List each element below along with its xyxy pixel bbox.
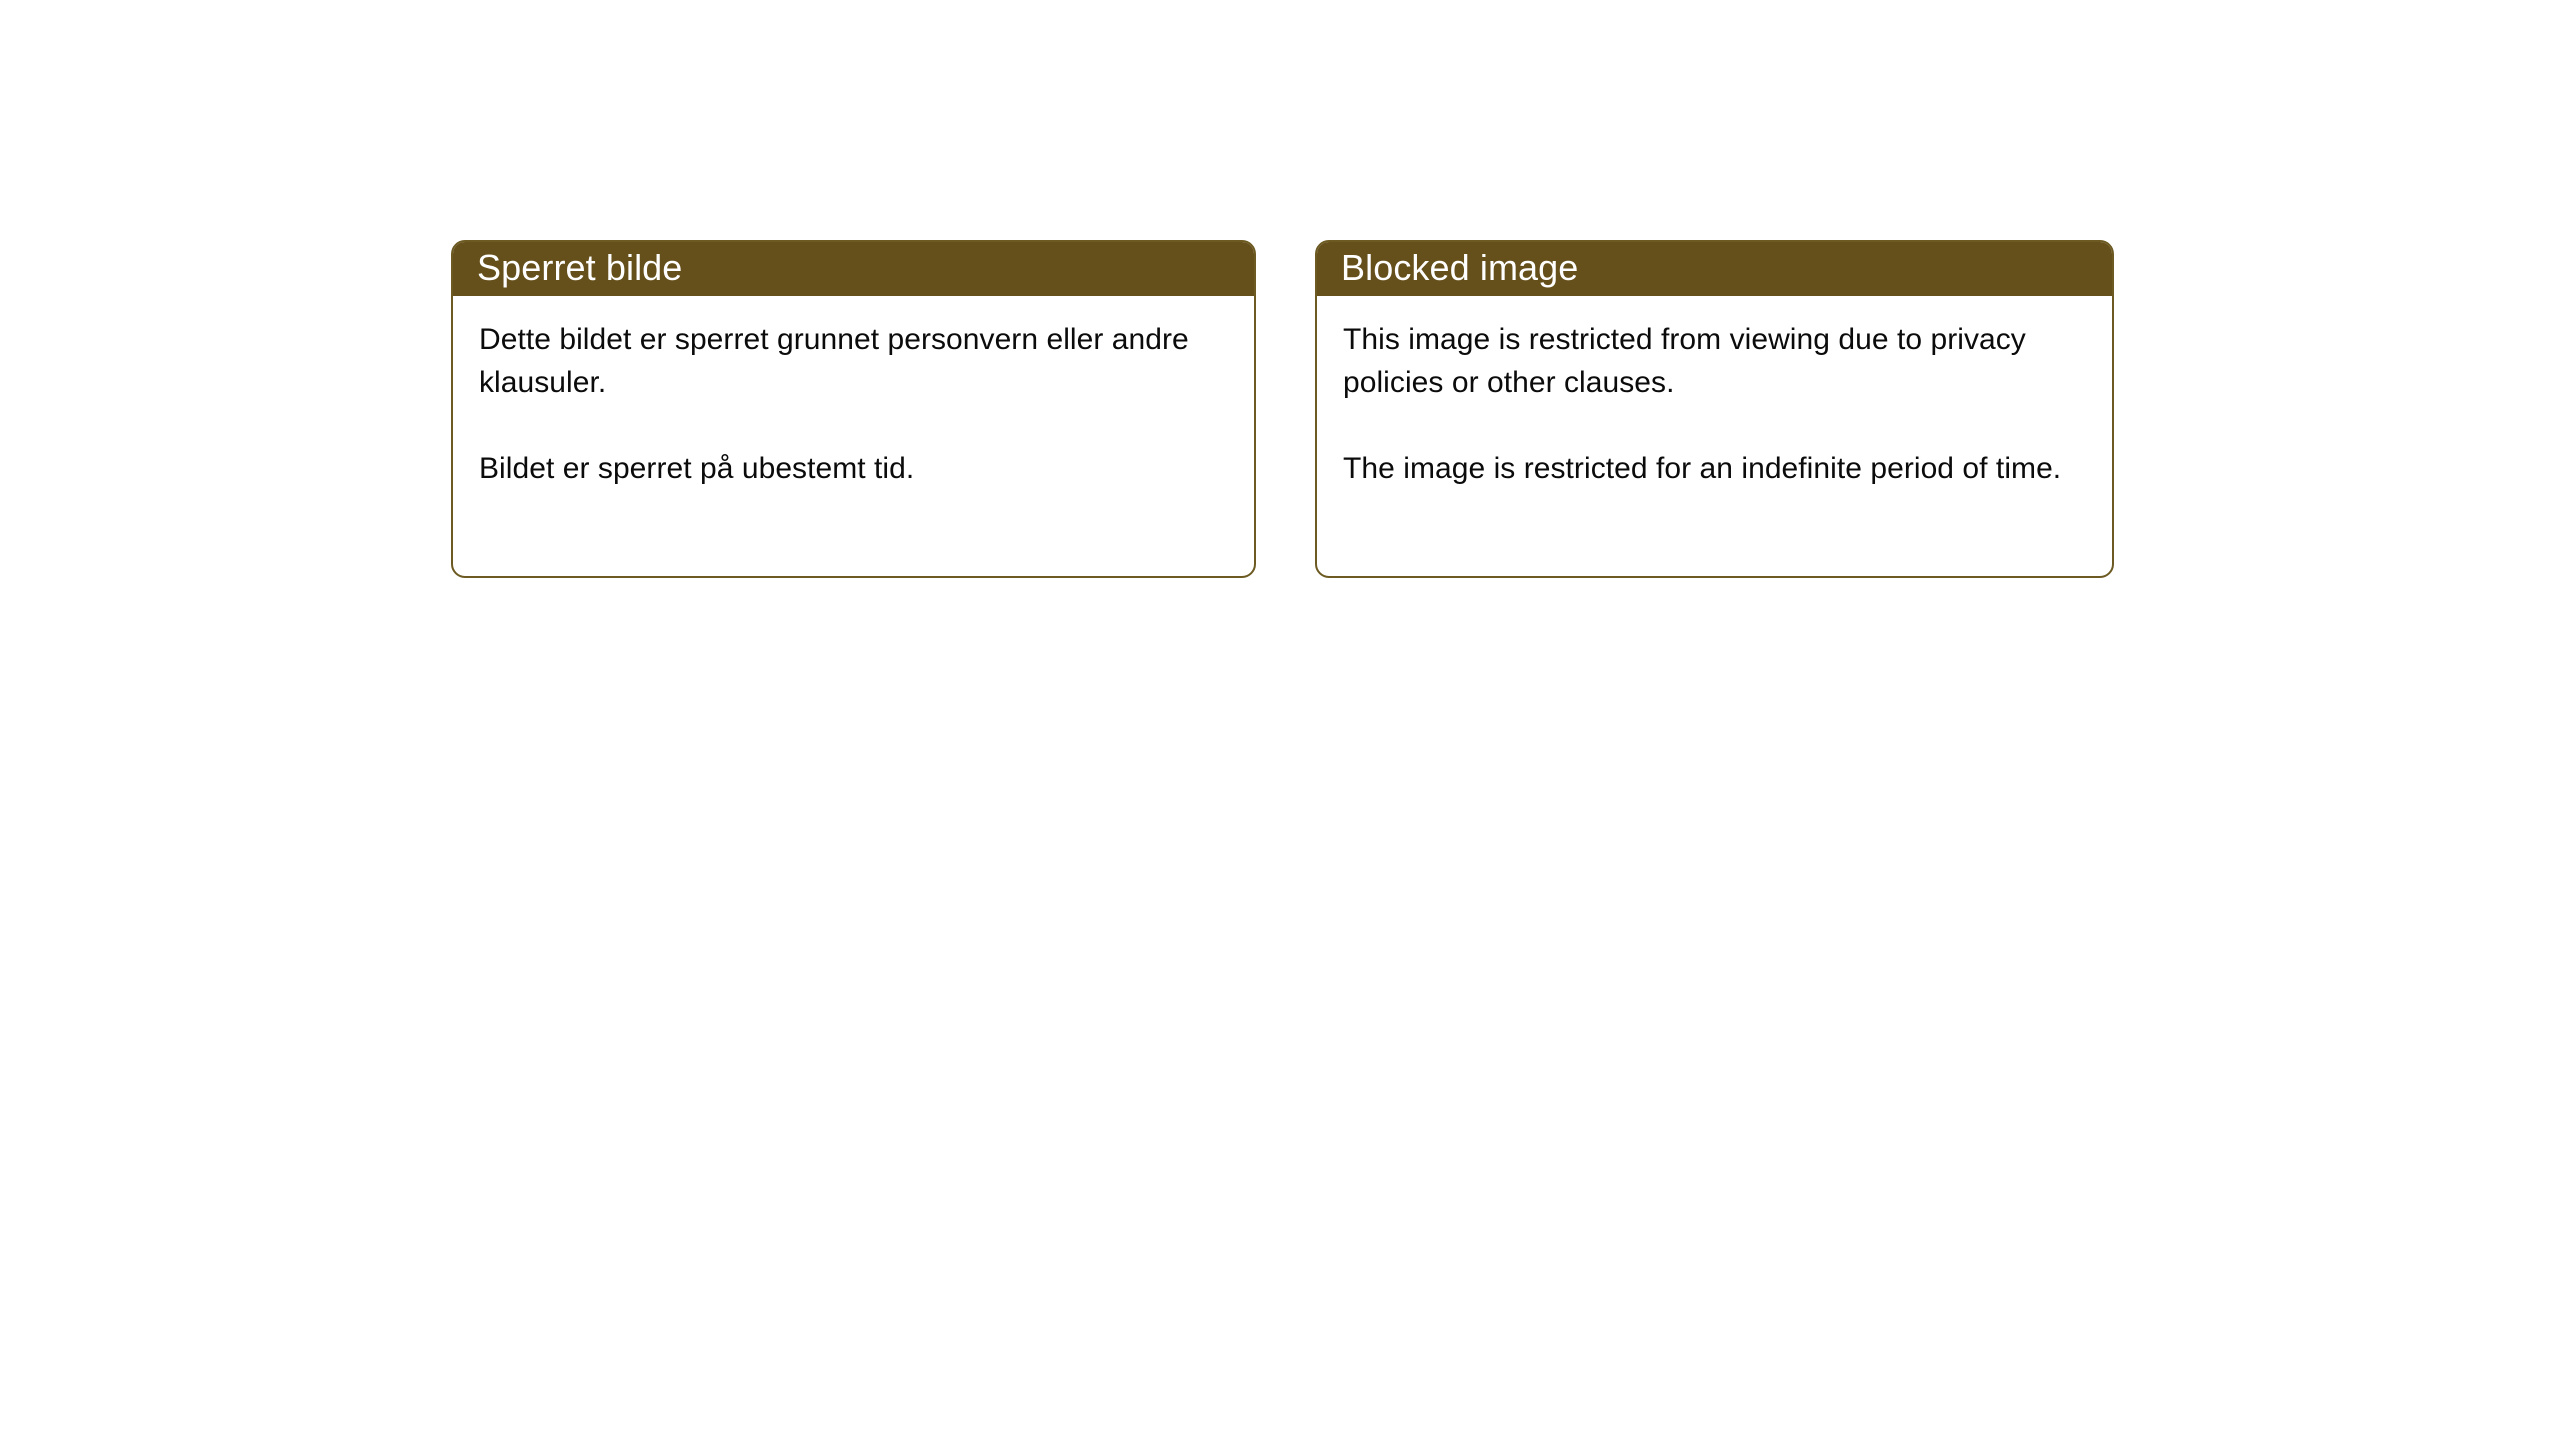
card-paragraph-secondary-english: The image is restricted for an indefinit… xyxy=(1343,447,2086,490)
card-body-english: This image is restricted from viewing du… xyxy=(1317,296,2112,576)
card-paragraph-secondary-norwegian: Bildet er sperret på ubestemt tid. xyxy=(479,447,1228,490)
card-header-english: Blocked image xyxy=(1315,240,2114,296)
blocked-image-notice-norwegian: Sperret bilde Dette bildet er sperret gr… xyxy=(451,240,1256,578)
card-body-norwegian: Dette bildet er sperret grunnet personve… xyxy=(453,296,1254,576)
page-canvas: Sperret bilde Dette bildet er sperret gr… xyxy=(0,0,2560,1440)
blocked-image-notice-english: Blocked image This image is restricted f… xyxy=(1315,240,2114,578)
card-title-english: Blocked image xyxy=(1341,250,1578,286)
card-title-norwegian: Sperret bilde xyxy=(477,250,682,286)
card-paragraph-primary-english: This image is restricted from viewing du… xyxy=(1343,318,2086,404)
card-header-norwegian: Sperret bilde xyxy=(451,240,1256,296)
card-paragraph-primary-norwegian: Dette bildet er sperret grunnet personve… xyxy=(479,318,1228,404)
